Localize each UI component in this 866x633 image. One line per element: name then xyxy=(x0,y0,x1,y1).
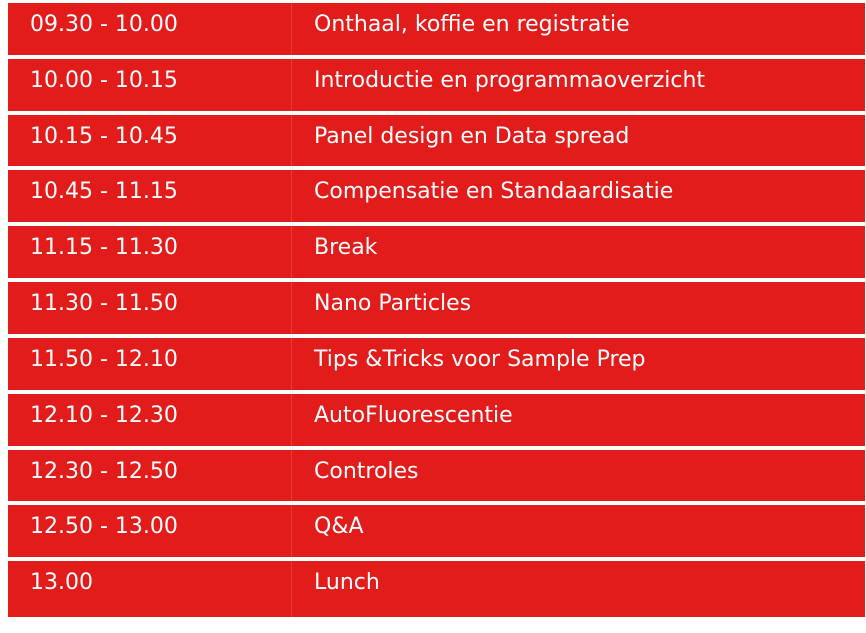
row-time-label: 11.30 - 11.50 xyxy=(30,293,292,315)
row-topic-label: Break xyxy=(314,237,865,259)
row-time-cell: 13.00 xyxy=(8,561,292,617)
row-topic-cell: Tips &Tricks voor Sample Prep xyxy=(292,338,865,394)
row-time-label: 09.30 - 10.00 xyxy=(30,14,292,36)
table-row: 10.45 - 11.15 Compensatie en Standaardis… xyxy=(8,170,865,226)
row-time-cell: 09.30 - 10.00 xyxy=(8,3,292,59)
row-time-cell: 10.00 - 10.15 xyxy=(8,59,292,115)
row-time-label: 12.10 - 12.30 xyxy=(30,405,292,427)
row-time-label: 10.00 - 10.15 xyxy=(30,70,292,92)
row-topic-label: Onthaal, koffie en registratie xyxy=(314,14,865,36)
row-time-cell: 11.30 - 11.50 xyxy=(8,282,292,338)
row-topic-label: Introductie en programmaoverzicht xyxy=(314,70,865,92)
table-row: 09.30 - 10.00 Onthaal, koffie en registr… xyxy=(8,3,865,59)
row-time-cell: 11.15 - 11.30 xyxy=(8,226,292,282)
table-row: 12.50 - 13.00 Q&A xyxy=(8,505,865,561)
row-topic-cell: Controles xyxy=(292,450,865,506)
table-row: 12.10 - 12.30 AutoFluorescentie xyxy=(8,394,865,450)
row-time-label: 10.45 - 11.15 xyxy=(30,181,292,203)
row-topic-label: Controles xyxy=(314,461,865,483)
row-time-label: 12.30 - 12.50 xyxy=(30,461,292,483)
row-topic-label: AutoFluorescentie xyxy=(314,405,865,427)
table-row: 11.50 - 12.10 Tips &Tricks voor Sample P… xyxy=(8,338,865,394)
row-topic-cell: Lunch xyxy=(292,561,865,617)
row-topic-cell: AutoFluorescentie xyxy=(292,394,865,450)
row-topic-label: Nano Particles xyxy=(314,293,865,315)
row-time-cell: 10.15 - 10.45 xyxy=(8,115,292,171)
schedule-container: 09.30 - 10.00 Onthaal, koffie en registr… xyxy=(0,0,866,633)
schedule-table: 09.30 - 10.00 Onthaal, koffie en registr… xyxy=(8,3,865,617)
row-topic-cell: Break xyxy=(292,226,865,282)
row-time-cell: 12.10 - 12.30 xyxy=(8,394,292,450)
schedule-body: 09.30 - 10.00 Onthaal, koffie en registr… xyxy=(8,3,865,617)
row-topic-cell: Panel design en Data spread xyxy=(292,115,865,171)
table-row: 11.30 - 11.50 Nano Particles xyxy=(8,282,865,338)
row-topic-label: Q&A xyxy=(314,516,865,538)
row-time-cell: 12.50 - 13.00 xyxy=(8,505,292,561)
row-time-cell: 12.30 - 12.50 xyxy=(8,450,292,506)
row-topic-label: Compensatie en Standaardisatie xyxy=(314,181,865,203)
row-time-cell: 10.45 - 11.15 xyxy=(8,170,292,226)
row-time-cell: 11.50 - 12.10 xyxy=(8,338,292,394)
table-row: 11.15 - 11.30 Break xyxy=(8,226,865,282)
table-row: 10.00 - 10.15 Introductie en programmaov… xyxy=(8,59,865,115)
row-time-label: 11.50 - 12.10 xyxy=(30,349,292,371)
row-time-label: 11.15 - 11.30 xyxy=(30,237,292,259)
table-row: 12.30 - 12.50 Controles xyxy=(8,450,865,506)
row-time-label: 13.00 xyxy=(30,572,292,594)
table-row: 13.00 Lunch xyxy=(8,561,865,617)
row-topic-cell: Nano Particles xyxy=(292,282,865,338)
row-topic-label: Panel design en Data spread xyxy=(314,126,865,148)
row-topic-cell: Compensatie en Standaardisatie xyxy=(292,170,865,226)
row-topic-cell: Q&A xyxy=(292,505,865,561)
row-topic-label: Tips &Tricks voor Sample Prep xyxy=(314,349,865,371)
table-row: 10.15 - 10.45 Panel design en Data sprea… xyxy=(8,115,865,171)
row-time-label: 10.15 - 10.45 xyxy=(30,126,292,148)
row-topic-cell: Onthaal, koffie en registratie xyxy=(292,3,865,59)
row-time-label: 12.50 - 13.00 xyxy=(30,516,292,538)
row-topic-cell: Introductie en programmaoverzicht xyxy=(292,59,865,115)
row-topic-label: Lunch xyxy=(314,572,865,594)
